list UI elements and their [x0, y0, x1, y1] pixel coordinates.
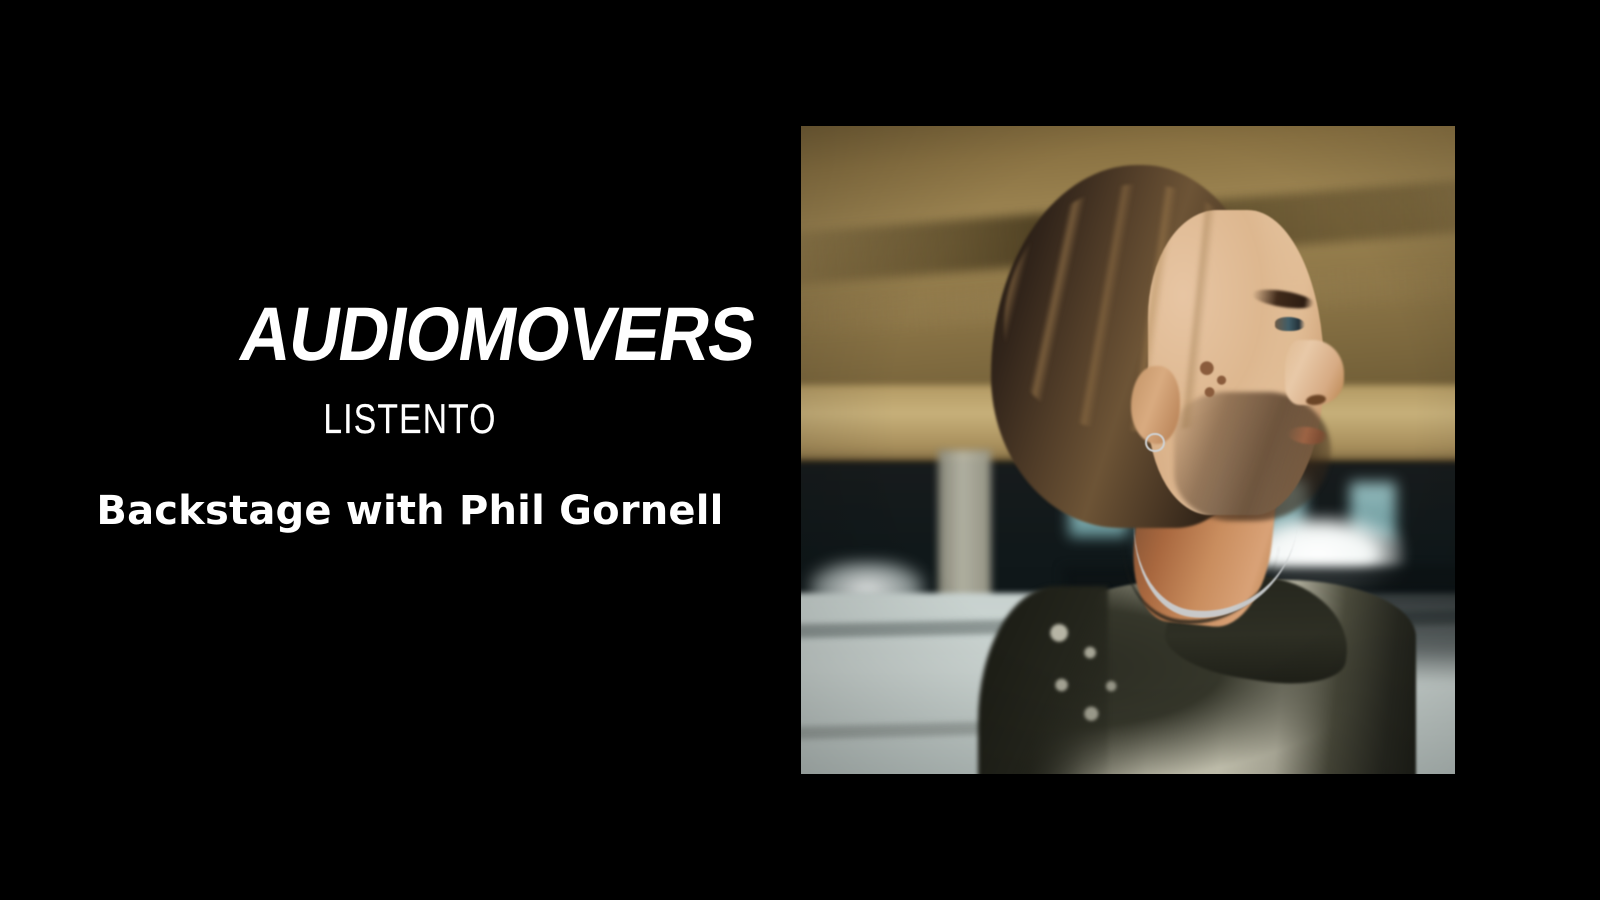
title-card-slide: AUDIOMOVERS LISTENTO Backstage with Phil…: [0, 0, 1600, 900]
guest-photo-frame: [801, 126, 1455, 774]
photo-subject: [801, 126, 1455, 774]
text-panel: AUDIOMOVERS LISTENTO Backstage with Phil…: [0, 0, 800, 900]
listento-product-name: LISTENTO: [82, 398, 738, 440]
episode-title: Backstage with Phil Gornell: [0, 489, 820, 533]
subject-cheek-moles: [1193, 359, 1239, 404]
subject-ear: [1131, 366, 1180, 444]
audiomovers-logo-text: AUDIOMOVERS: [234, 291, 761, 377]
audiomovers-logo: AUDIOMOVERS: [232, 303, 592, 371]
audiomovers-logo-svg: AUDIOMOVERS: [232, 303, 592, 371]
guest-photo: [801, 126, 1455, 774]
subject-earring: [1145, 433, 1165, 453]
subject-eye: [1275, 317, 1305, 331]
